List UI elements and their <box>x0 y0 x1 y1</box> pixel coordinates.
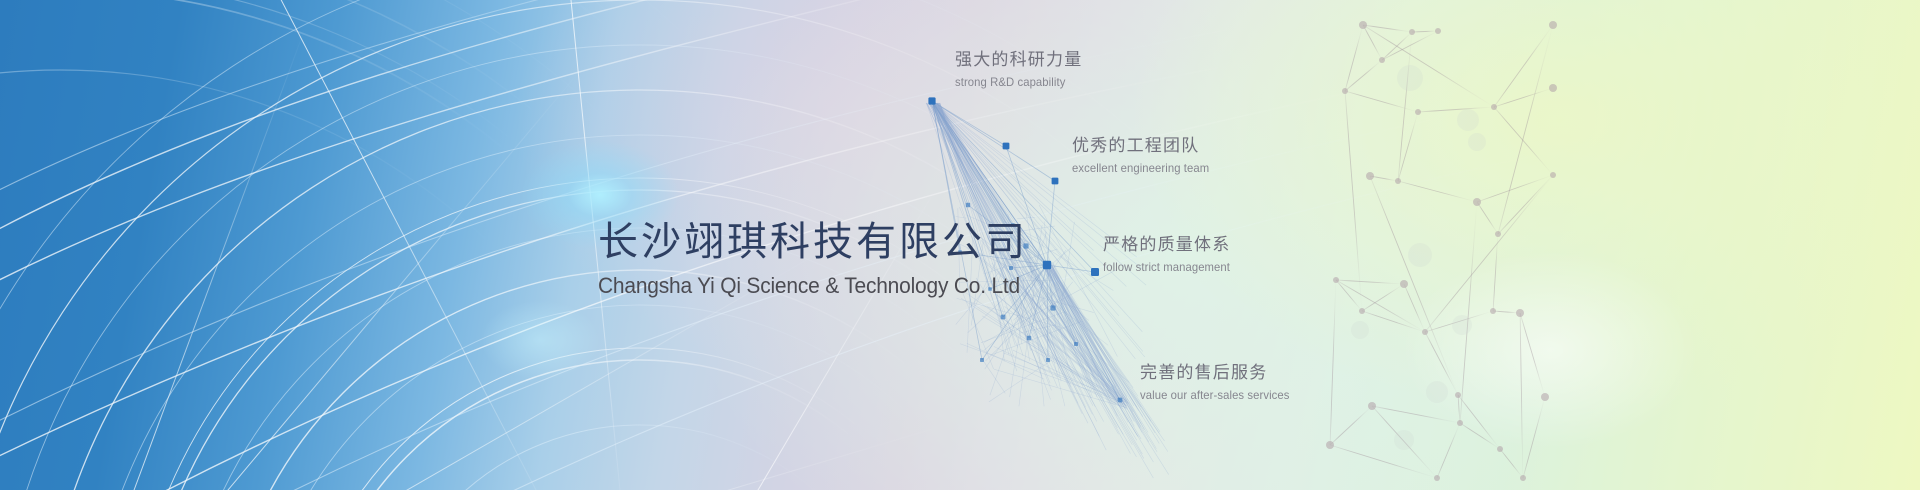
feature-title-en-3: value our after-sales services <box>1140 388 1290 402</box>
network-node <box>980 358 984 362</box>
feature-title-en-0: strong R&D capability <box>955 75 1075 89</box>
feature-title-cn-2: 严格的质量体系 <box>1103 235 1238 256</box>
network-node <box>1050 305 1055 310</box>
feature-label-service: 完善的售后服务 value our after-sales services <box>1140 363 1299 402</box>
network-node <box>1118 398 1123 403</box>
feature-title-cn-1: 优秀的工程团队 <box>1072 136 1218 157</box>
network-node <box>1074 342 1078 346</box>
company-name-cn: 长沙翊琪科技有限公司 <box>598 222 1052 262</box>
network-node <box>1052 178 1059 185</box>
network-node <box>1001 315 1006 320</box>
network-node <box>1003 143 1010 150</box>
network-node <box>1091 268 1099 276</box>
feature-label-engineering: 优秀的工程团队 excellent engineering team <box>1072 136 1218 175</box>
hero-banner: 长沙翊琪科技有限公司 Changsha Yi Qi Science & Tech… <box>0 0 1920 490</box>
feature-title-en-1: excellent engineering team <box>1072 161 1209 175</box>
network-node <box>928 97 935 104</box>
company-headline: 长沙翊琪科技有限公司 Changsha Yi Qi Science & Tech… <box>598 222 1052 298</box>
feature-title-cn-3: 完善的售后服务 <box>1140 363 1299 384</box>
company-name-en: Changsha Yi Qi Science & Technology Co. … <box>598 275 1020 298</box>
feature-title-en-2: follow strict management <box>1103 260 1230 274</box>
network-node <box>1027 336 1031 340</box>
network-node <box>966 203 970 207</box>
feature-label-quality: 严格的质量体系 follow strict management <box>1103 235 1238 274</box>
feature-label-rd: 强大的科研力量 strong R&D capability <box>955 50 1082 89</box>
network-node <box>1046 358 1050 362</box>
feature-title-cn-0: 强大的科研力量 <box>955 50 1082 71</box>
